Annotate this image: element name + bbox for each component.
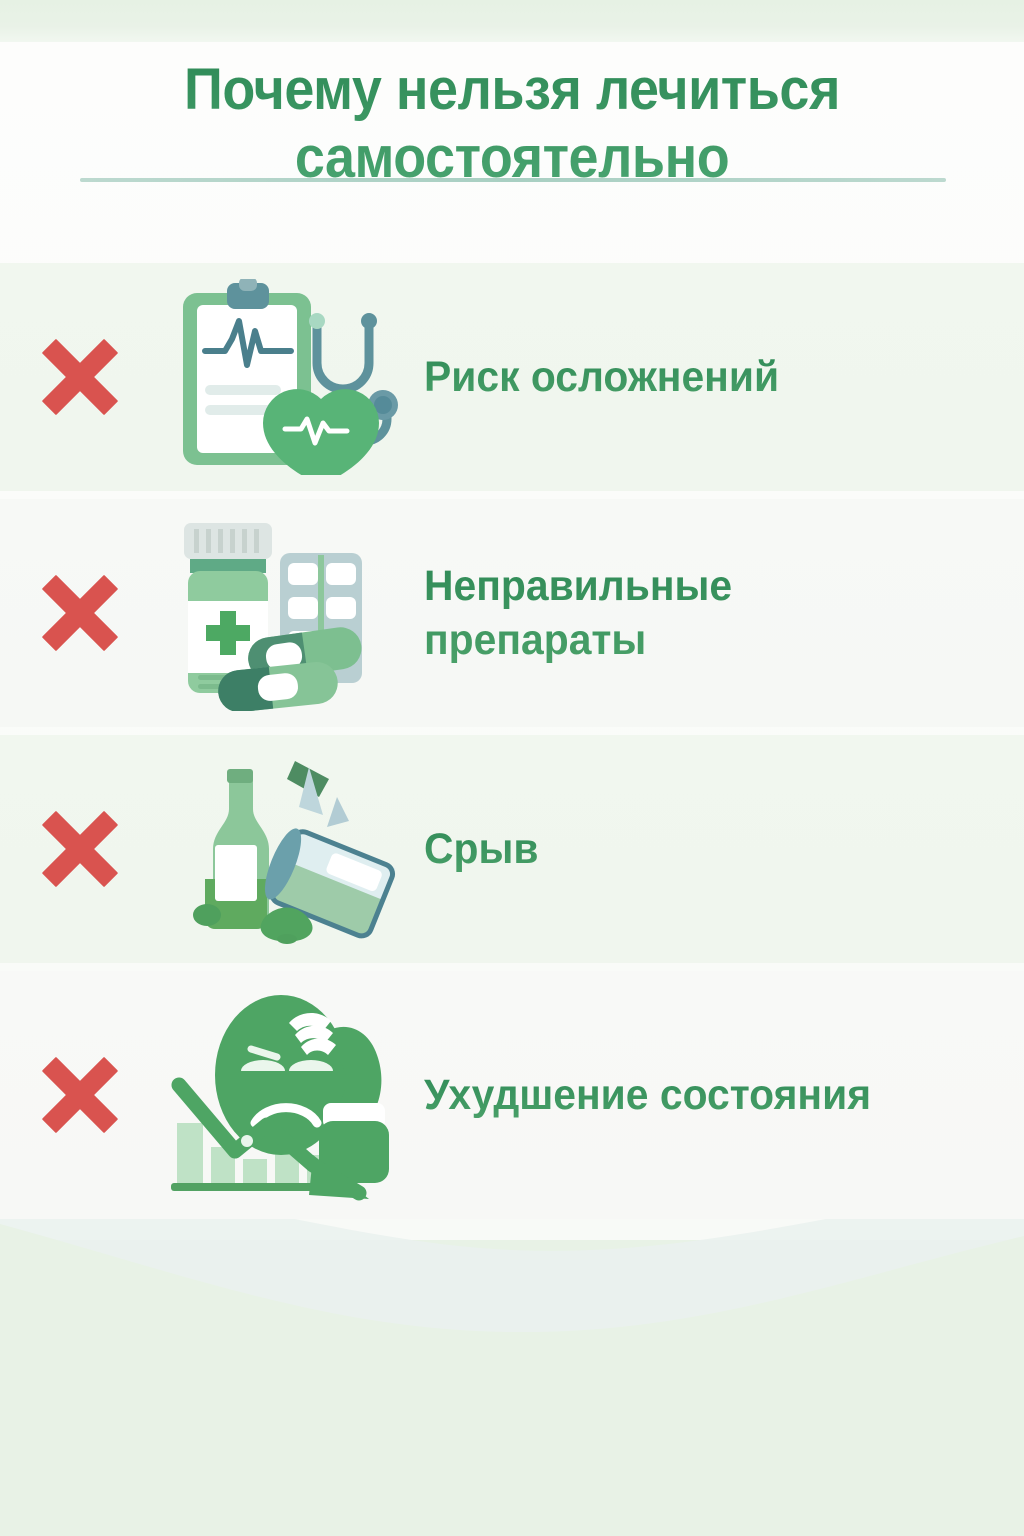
cross-marker bbox=[0, 335, 160, 419]
clipboard-stethoscope-heart-icon bbox=[169, 279, 401, 475]
icon-container bbox=[160, 279, 410, 475]
icon-container bbox=[160, 749, 410, 949]
page-title: Почему нельзя лечитьсясамостоятельно bbox=[36, 56, 988, 192]
list-item-label: Неправильные препараты bbox=[424, 559, 966, 667]
pill-bottle-blister-capsules-icon bbox=[170, 515, 400, 711]
cross-marker bbox=[0, 807, 160, 891]
list-item-label: Срыв bbox=[424, 822, 966, 876]
title-divider bbox=[80, 178, 946, 182]
label-container: Неправильные препараты bbox=[410, 559, 1024, 667]
icon-container bbox=[160, 515, 410, 711]
list-item-label: Ухудшение состояния bbox=[424, 1068, 966, 1122]
cross-marker bbox=[0, 571, 160, 655]
list-item-label: Риск осложнений bbox=[424, 350, 966, 404]
cross-marker bbox=[0, 1053, 160, 1137]
top-green-band bbox=[0, 0, 1024, 44]
infographic-page: Почему нельзя лечитьсясамостоятельно bbox=[0, 0, 1024, 1536]
icon-container bbox=[160, 987, 410, 1203]
list-item: Ухудшение состояния bbox=[0, 971, 1024, 1219]
list-item: Риск осложнений bbox=[0, 263, 1024, 491]
page-title-line-1: Почему нельзя лечиться bbox=[36, 56, 988, 124]
reasons-list: Риск осложнений bbox=[0, 263, 1024, 1227]
cross-icon bbox=[38, 1053, 122, 1137]
stressed-person-declining-chart-icon bbox=[163, 987, 407, 1203]
cross-icon bbox=[38, 807, 122, 891]
label-container: Ухудшение состояния bbox=[410, 1068, 1024, 1122]
label-container: Риск осложнений bbox=[410, 350, 1024, 404]
cross-icon bbox=[38, 335, 122, 419]
list-item: Срыв bbox=[0, 735, 1024, 963]
header: Почему нельзя лечитьсясамостоятельно bbox=[0, 56, 1024, 192]
list-item: Неправильные препараты bbox=[0, 499, 1024, 727]
cross-icon bbox=[38, 571, 122, 655]
bottle-spilled-glass-icon bbox=[169, 749, 401, 949]
label-container: Срыв bbox=[410, 822, 1024, 876]
